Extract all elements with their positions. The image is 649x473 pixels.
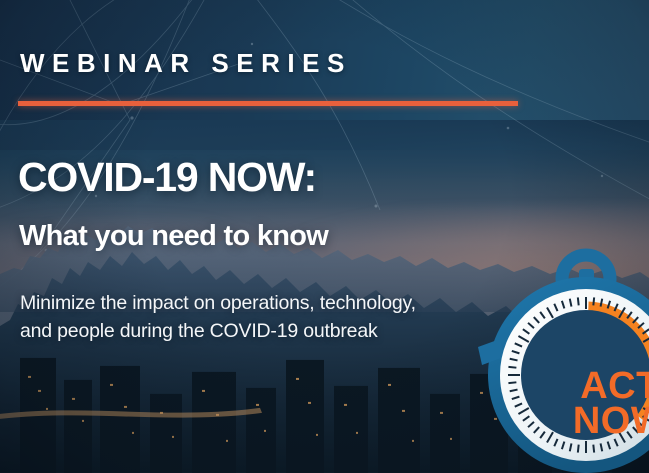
act-now-label: ACT NOW bbox=[554, 369, 649, 439]
banner-description-line-1: Minimize the impact on operations, techn… bbox=[20, 290, 416, 318]
banner-description: Minimize the impact on operations, techn… bbox=[20, 290, 416, 345]
act-now-line-1: ACT bbox=[554, 369, 649, 404]
webinar-promo-banner: WEBINAR SERIES COVID-19 NOW: What you ne… bbox=[0, 0, 649, 473]
act-now-badge[interactable]: ACT NOW bbox=[466, 247, 649, 473]
page-subtitle: What you need to know bbox=[19, 222, 328, 251]
banner-content: WEBINAR SERIES COVID-19 NOW: What you ne… bbox=[0, 0, 649, 473]
banner-description-line-2: and people during the COVID-19 outbreak bbox=[20, 318, 416, 346]
act-now-line-2: NOW bbox=[554, 404, 649, 439]
webinar-series-eyebrow: WEBINAR SERIES bbox=[20, 50, 352, 76]
orange-divider-rule bbox=[18, 101, 518, 106]
page-title: COVID-19 NOW: bbox=[18, 157, 316, 198]
